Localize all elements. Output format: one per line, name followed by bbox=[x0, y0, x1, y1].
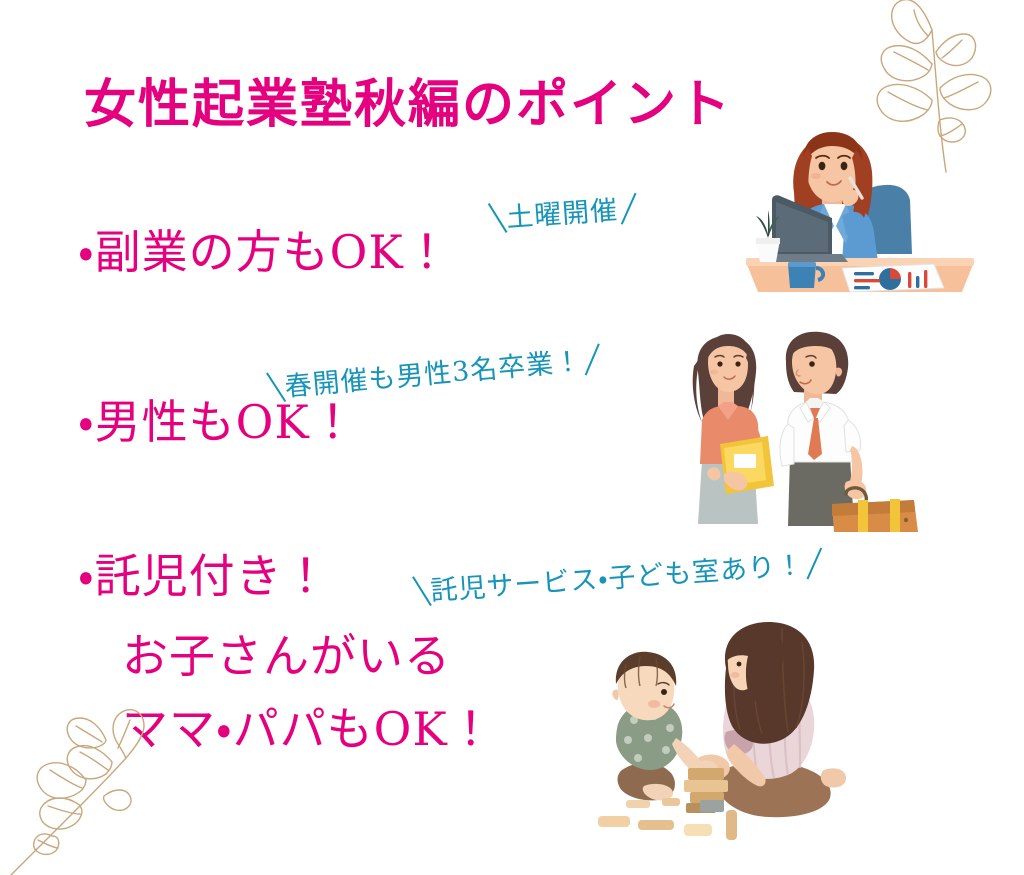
annotation-slash-left-icon bbox=[477, 199, 505, 235]
illustration-parent-and-child-playing-blocks bbox=[592, 620, 914, 852]
illustration-woman-at-desk bbox=[738, 122, 1020, 300]
botanical-branch-top-right-icon bbox=[828, 0, 1024, 176]
illustration-man-and-woman-professionals bbox=[662, 328, 938, 532]
bullet-item-3-text-line-1: ・託児付き！ bbox=[78, 552, 330, 602]
annotation-1-text: 土曜開催 bbox=[503, 188, 621, 235]
annotation-slash-right-icon bbox=[619, 189, 647, 225]
annotation-slash-right-icon bbox=[582, 339, 611, 375]
annotation-childcare-service: 託児サービス・子ども室あり！ bbox=[401, 541, 833, 610]
annotation-slash-left-icon bbox=[255, 368, 284, 404]
bullet-item-2-text: ・男性もOK！ bbox=[78, 398, 357, 448]
page-title: 女性起業塾秋編のポイント bbox=[84, 76, 732, 133]
annotation-2-text: 春開催も男性3名卒業！ bbox=[281, 339, 585, 404]
bullet-item-3-text-line-2: お子さんがいる bbox=[122, 632, 451, 682]
annotation-slash-right-icon bbox=[805, 544, 833, 580]
bullet-item-1-text: ・副業の方もOK！ bbox=[78, 228, 451, 278]
annotation-slash-left-icon bbox=[401, 572, 429, 608]
annotation-3-text: 託児サービス・子ども室あり！ bbox=[427, 543, 807, 608]
poster-canvas: 女性起業塾秋編のポイント ・副業の方もOK！ 土曜開催 ・男性もOK！ 春開催も… bbox=[0, 0, 1024, 875]
bullet-item-3-text-line-3: ママ・パパもOK！ bbox=[122, 705, 495, 755]
annotation-saturday-session: 土曜開催 bbox=[477, 186, 647, 237]
annotation-spring-male-graduates: 春開催も男性3名卒業！ bbox=[255, 337, 611, 407]
